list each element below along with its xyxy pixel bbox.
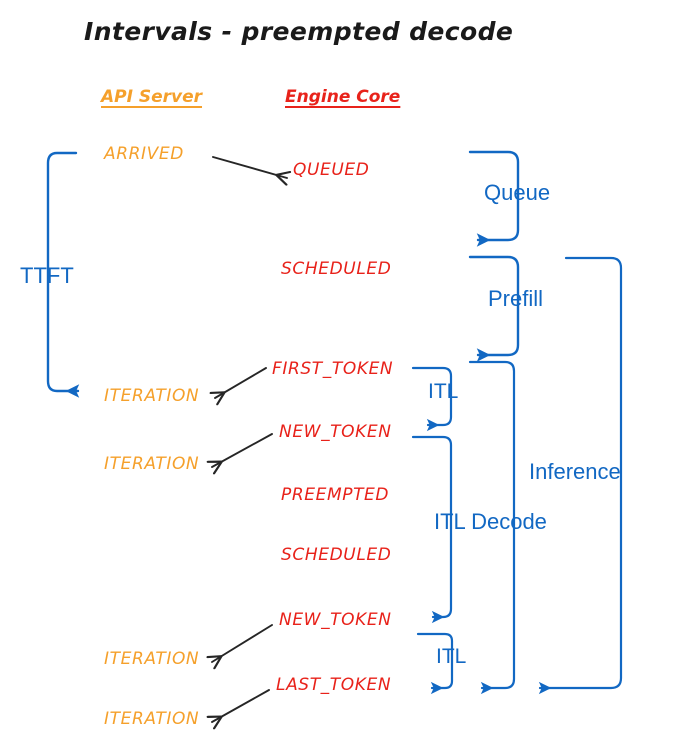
bracket-inference [540, 258, 621, 688]
bracket-ttft [48, 153, 78, 391]
bracket-queue [470, 152, 518, 240]
arrow-arrived-to-queued [213, 157, 287, 178]
arrow-new-token-to-iteration-1 [212, 434, 272, 467]
bracket-itl-last [418, 634, 452, 688]
arrow-first-token-to-iteration [215, 368, 266, 398]
connector-layer [0, 0, 679, 750]
arrow-new-token-to-iteration-2 [212, 625, 272, 662]
bracket-prefill [470, 257, 518, 355]
arrow-last-token-to-iteration [212, 690, 269, 722]
diagram-canvas: Intervals - preempted decode API Server … [0, 0, 679, 750]
bracket-itl-decode [413, 437, 451, 617]
bracket-itl-first [413, 368, 451, 425]
bracket-decode [470, 362, 514, 688]
